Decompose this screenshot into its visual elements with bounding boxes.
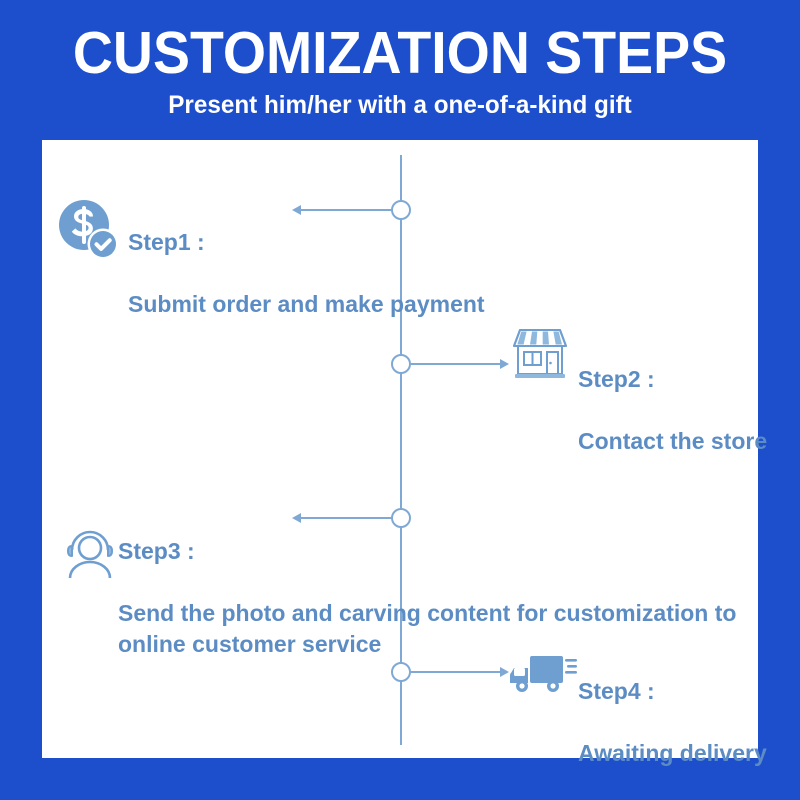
step2-description: Contact the store <box>578 426 767 457</box>
step4-delivery-truck-icon <box>508 650 578 703</box>
step4-arrow-right-icon <box>500 667 509 677</box>
step4-text-block: Step4 : Awaiting delivery <box>578 645 767 800</box>
step2-label: Step2 : <box>578 364 767 395</box>
step4-connector-arm <box>411 671 500 673</box>
step2-storefront-icon <box>508 320 572 389</box>
step4-timeline-node <box>391 662 411 682</box>
step1-label: Step1 : <box>128 227 485 258</box>
step4-description: Awaiting delivery <box>578 738 767 769</box>
header: CUSTOMIZATION STEPS Present him/her with… <box>0 0 800 140</box>
step2-connector-arm <box>411 363 500 365</box>
step2-timeline-node <box>391 354 411 374</box>
step1-description: Submit order and make payment <box>128 289 485 320</box>
page-title: CUSTOMIZATION STEPS <box>24 22 776 84</box>
step1-text-block: Step1 : Submit order and make payment <box>128 196 485 351</box>
page-subtitle: Present him/her with a one-of-a-kind gif… <box>12 90 788 120</box>
step4-label: Step4 : <box>578 676 767 707</box>
infographic-root: CUSTOMIZATION STEPS Present him/her with… <box>0 0 800 800</box>
step2-arrow-right-icon <box>500 359 509 369</box>
step3-label: Step3 : <box>118 536 800 567</box>
step3-headset-support-icon <box>62 524 118 585</box>
step1-dollar-coin-check-icon <box>57 198 119 265</box>
step2-text-block: Step2 : Contact the store <box>578 333 767 488</box>
